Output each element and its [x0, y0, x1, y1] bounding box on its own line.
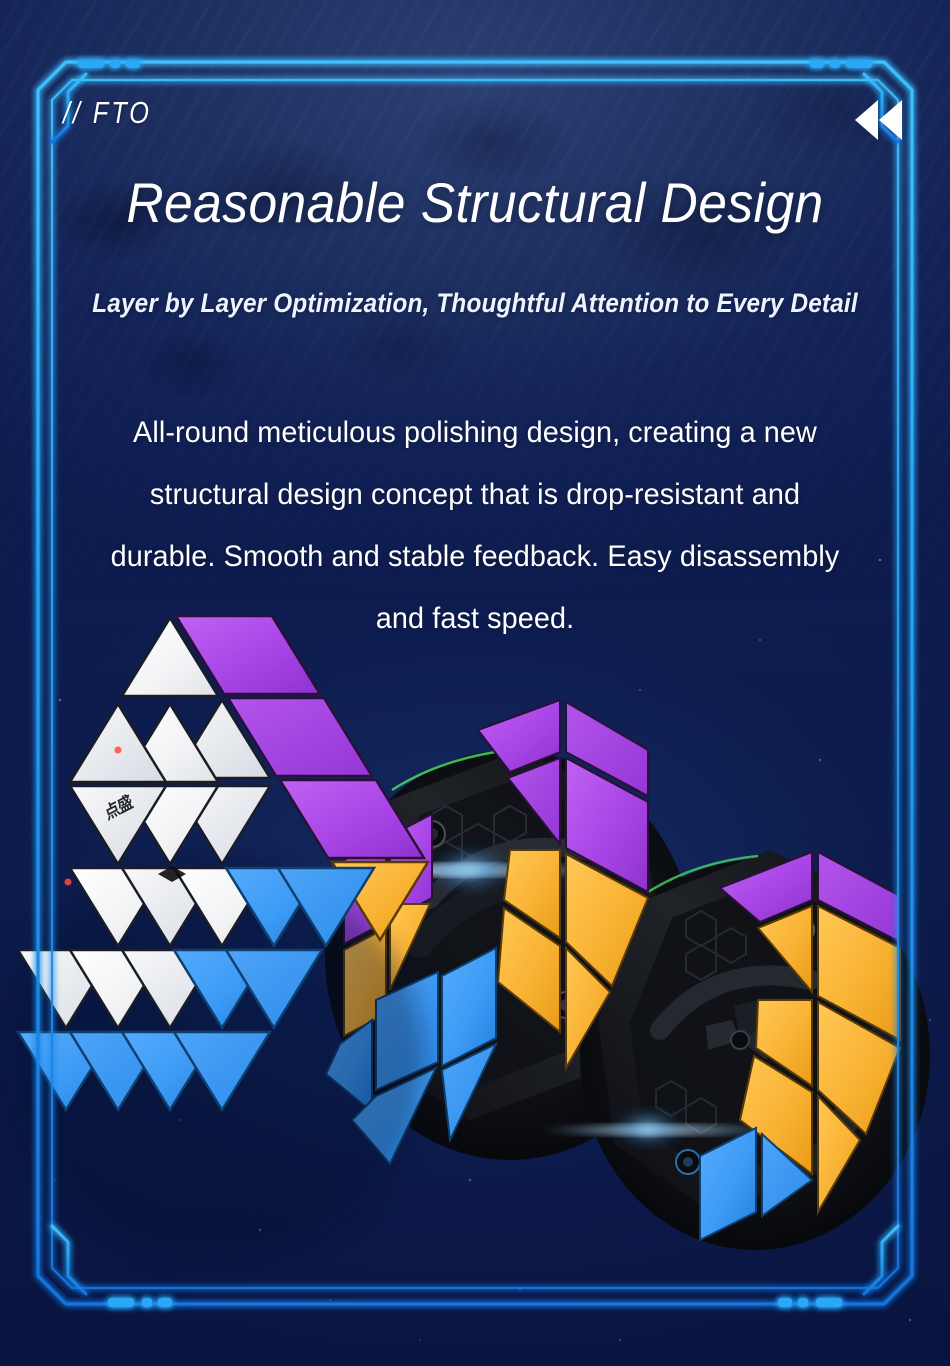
page-stage: 点盛 [0, 0, 950, 1366]
rewind-triangle-2 [879, 100, 902, 140]
body-paragraph: All-round meticulous polishing design, c… [110, 402, 840, 650]
rewind-icon[interactable] [850, 100, 902, 140]
page-title: Reasonable Structural Design [38, 170, 912, 235]
page-subtitle: Layer by Layer Optimization, Thoughtful … [48, 288, 903, 319]
content-layer: // FTO Reasonable Structural Design Laye… [0, 0, 950, 1366]
section-kicker: // FTO [63, 95, 152, 131]
rewind-triangle-1 [855, 100, 878, 140]
